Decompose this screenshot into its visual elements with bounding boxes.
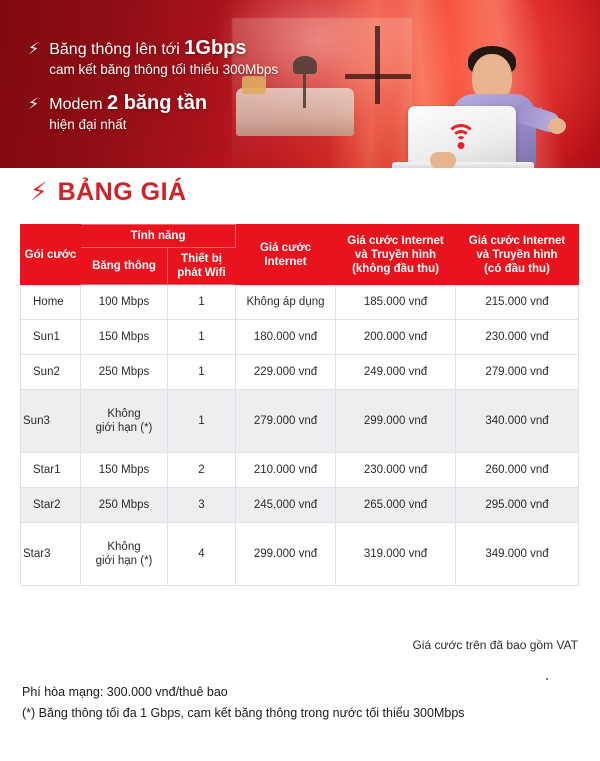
bandwidth-footnote: (*) Băng thông tối đa 1 Gbps, cam kết bă… bbox=[22, 703, 465, 724]
banner-bullet-1-prefix: Băng thông lên tới bbox=[49, 41, 184, 58]
col-header-internet-price-line1: Giá cước bbox=[260, 242, 311, 254]
holding-hand bbox=[430, 152, 456, 168]
col-header-tv-with-receiver-line3: (có đầu thu) bbox=[484, 263, 550, 275]
cell-tv-with-receiver: 279.000 vnđ bbox=[456, 355, 579, 390]
cell-package: Sun2 bbox=[21, 355, 81, 390]
setup-fee-note: Phí hòa mạng: 300.000 vnđ/thuê bao bbox=[22, 682, 465, 703]
cell-tv-with-receiver: 340.000 vnđ bbox=[456, 390, 579, 453]
cell-wifi-devices: 3 bbox=[168, 488, 236, 523]
table-row: Sun3Khônggiới hạn (*)1279.000 vnđ299.000… bbox=[21, 390, 579, 453]
col-header-features-group: Tính năng bbox=[81, 225, 236, 248]
cell-bandwidth: 150 Mbps bbox=[81, 453, 168, 488]
table-row: Sun1150 Mbps1180.000 vnđ200.000 vnđ230.0… bbox=[21, 320, 579, 355]
lightning-bolt-icon: ⚡ bbox=[28, 97, 39, 113]
cell-tv-no-receiver: 200.000 vnđ bbox=[336, 320, 456, 355]
table-row: Star1150 Mbps2210.000 vnđ230.000 vnđ260.… bbox=[21, 453, 579, 488]
cell-tv-with-receiver: 215.000 vnđ bbox=[456, 285, 579, 320]
banner-bullet-2-line1: Modem 2 băng tần bbox=[49, 93, 207, 115]
cell-wifi-devices: 4 bbox=[168, 523, 236, 586]
window-frame-illustration bbox=[345, 26, 411, 104]
cell-bandwidth: 150 Mbps bbox=[81, 320, 168, 355]
cell-wifi-devices: 1 bbox=[168, 390, 236, 453]
cell-tv-with-receiver: 295.000 vnđ bbox=[456, 488, 579, 523]
col-header-wifi-device-line2: phát Wifi bbox=[177, 267, 225, 279]
cell-tv-no-receiver: 319.000 vnđ bbox=[336, 523, 456, 586]
wifi-icon bbox=[444, 124, 478, 148]
price-table-body: Home100 Mbps1Không áp dụng185.000 vnđ215… bbox=[21, 285, 579, 586]
col-header-bandwidth: Băng thông bbox=[81, 248, 168, 285]
cell-internet-price: 245.000 vnđ bbox=[236, 488, 336, 523]
cell-tv-no-receiver: 185.000 vnđ bbox=[336, 285, 456, 320]
cell-wifi-devices: 1 bbox=[168, 320, 236, 355]
cell-internet-price: 229.000 vnđ bbox=[236, 355, 336, 390]
col-header-tv-no-receiver: Giá cước Internet và Truyền hình (không … bbox=[336, 225, 456, 285]
lightning-bolt-icon: ⚡ bbox=[28, 42, 39, 58]
price-table-header: Gói cước Tính năng Giá cước Internet Giá… bbox=[21, 225, 579, 285]
pointing-hand bbox=[548, 118, 566, 134]
person-with-laptop-photo bbox=[432, 30, 562, 168]
cell-tv-with-receiver: 260.000 vnđ bbox=[456, 453, 579, 488]
table-row: Sun2250 Mbps1229.000 vnđ249.000 vnđ279.0… bbox=[21, 355, 579, 390]
cell-bandwidth: 250 Mbps bbox=[81, 355, 168, 390]
col-header-tv-no-receiver-line1: Giá cước Internet bbox=[347, 235, 443, 247]
cell-wifi-devices: 1 bbox=[168, 285, 236, 320]
cell-package: Star3 bbox=[21, 523, 81, 586]
banner-bullet-2-line2: hiện đại nhất bbox=[49, 115, 207, 134]
vat-note: Giá cước trên đã bao gồm VAT bbox=[412, 638, 578, 652]
lightning-bolt-icon: ⚡ bbox=[30, 180, 48, 205]
laptop bbox=[408, 106, 516, 168]
footnotes: Phí hòa mạng: 300.000 vnđ/thuê bao (*) B… bbox=[22, 682, 465, 724]
banner-bullet-2-prefix: Modem bbox=[49, 96, 107, 113]
cell-tv-no-receiver: 249.000 vnđ bbox=[336, 355, 456, 390]
cell-package: Sun1 bbox=[21, 320, 81, 355]
cell-internet-price: 279.000 vnđ bbox=[236, 390, 336, 453]
floor-lamp-illustration bbox=[293, 56, 317, 74]
cell-wifi-devices: 2 bbox=[168, 453, 236, 488]
banner-bullet-1: ⚡ Băng thông lên tới 1Gbps cam kết băng … bbox=[28, 38, 278, 79]
page-title: BẢNG GIÁ bbox=[58, 178, 187, 207]
price-list-page: ⚡ Băng thông lên tới 1Gbps cam kết băng … bbox=[0, 0, 600, 761]
col-header-tv-no-receiver-line2: và Truyền hình bbox=[355, 249, 436, 261]
cell-wifi-devices: 1 bbox=[168, 355, 236, 390]
banner-bullet-1-line1: Băng thông lên tới 1Gbps bbox=[49, 38, 278, 60]
banner-bullet-2: ⚡ Modem 2 băng tần hiện đại nhất bbox=[28, 93, 278, 134]
table-row: Star3Khônggiới hạn (*)4299.000 vnđ319.00… bbox=[21, 523, 579, 586]
promo-banner: ⚡ Băng thông lên tới 1Gbps cam kết băng … bbox=[0, 0, 600, 168]
stray-dot-mark bbox=[546, 678, 548, 680]
section-title: ⚡ BẢNG GIÁ bbox=[30, 178, 187, 207]
table-row: Home100 Mbps1Không áp dụng185.000 vnđ215… bbox=[21, 285, 579, 320]
col-header-internet-price-line2: Internet bbox=[264, 256, 306, 268]
col-header-internet-price: Giá cước Internet bbox=[236, 225, 336, 285]
col-header-package: Gói cước bbox=[21, 225, 81, 285]
cell-package: Sun3 bbox=[21, 390, 81, 453]
banner-copy: ⚡ Băng thông lên tới 1Gbps cam kết băng … bbox=[28, 38, 278, 148]
cell-package: Star1 bbox=[21, 453, 81, 488]
col-header-tv-no-receiver-line3: (không đầu thu) bbox=[352, 263, 439, 275]
cell-internet-price: 299.000 vnđ bbox=[236, 523, 336, 586]
cell-tv-no-receiver: 265.000 vnđ bbox=[336, 488, 456, 523]
cell-bandwidth: Khônggiới hạn (*) bbox=[81, 390, 168, 453]
cell-tv-no-receiver: 299.000 vnđ bbox=[336, 390, 456, 453]
cell-bandwidth: 100 Mbps bbox=[81, 285, 168, 320]
cell-internet-price: 180.000 vnđ bbox=[236, 320, 336, 355]
cell-tv-with-receiver: 230.000 vnđ bbox=[456, 320, 579, 355]
table-row: Star2250 Mbps3245.000 vnđ265.000 vnđ295.… bbox=[21, 488, 579, 523]
col-header-tv-with-receiver: Giá cước Internet và Truyền hình (có đầu… bbox=[456, 225, 579, 285]
banner-bullet-1-line2: cam kết băng thông tối thiểu 300Mbps bbox=[49, 60, 278, 79]
col-header-wifi-device-line1: Thiết bị bbox=[181, 253, 222, 265]
cell-tv-no-receiver: 230.000 vnđ bbox=[336, 453, 456, 488]
col-header-wifi-device: Thiết bị phát Wifi bbox=[168, 248, 236, 285]
col-header-tv-with-receiver-line1: Giá cước Internet bbox=[469, 235, 565, 247]
cell-bandwidth: Khônggiới hạn (*) bbox=[81, 523, 168, 586]
cell-internet-price: Không áp dụng bbox=[236, 285, 336, 320]
cell-package: Home bbox=[21, 285, 81, 320]
col-header-tv-with-receiver-line2: và Truyền hình bbox=[476, 249, 557, 261]
cell-internet-price: 210.000 vnđ bbox=[236, 453, 336, 488]
banner-bullet-2-highlight: 2 băng tần bbox=[107, 92, 207, 114]
laptop-base bbox=[392, 162, 534, 168]
price-table: Gói cước Tính năng Giá cước Internet Giá… bbox=[20, 224, 579, 586]
cell-package: Star2 bbox=[21, 488, 81, 523]
banner-bullet-1-highlight: 1Gbps bbox=[184, 37, 246, 59]
cell-bandwidth: 250 Mbps bbox=[81, 488, 168, 523]
cell-tv-with-receiver: 349.000 vnđ bbox=[456, 523, 579, 586]
